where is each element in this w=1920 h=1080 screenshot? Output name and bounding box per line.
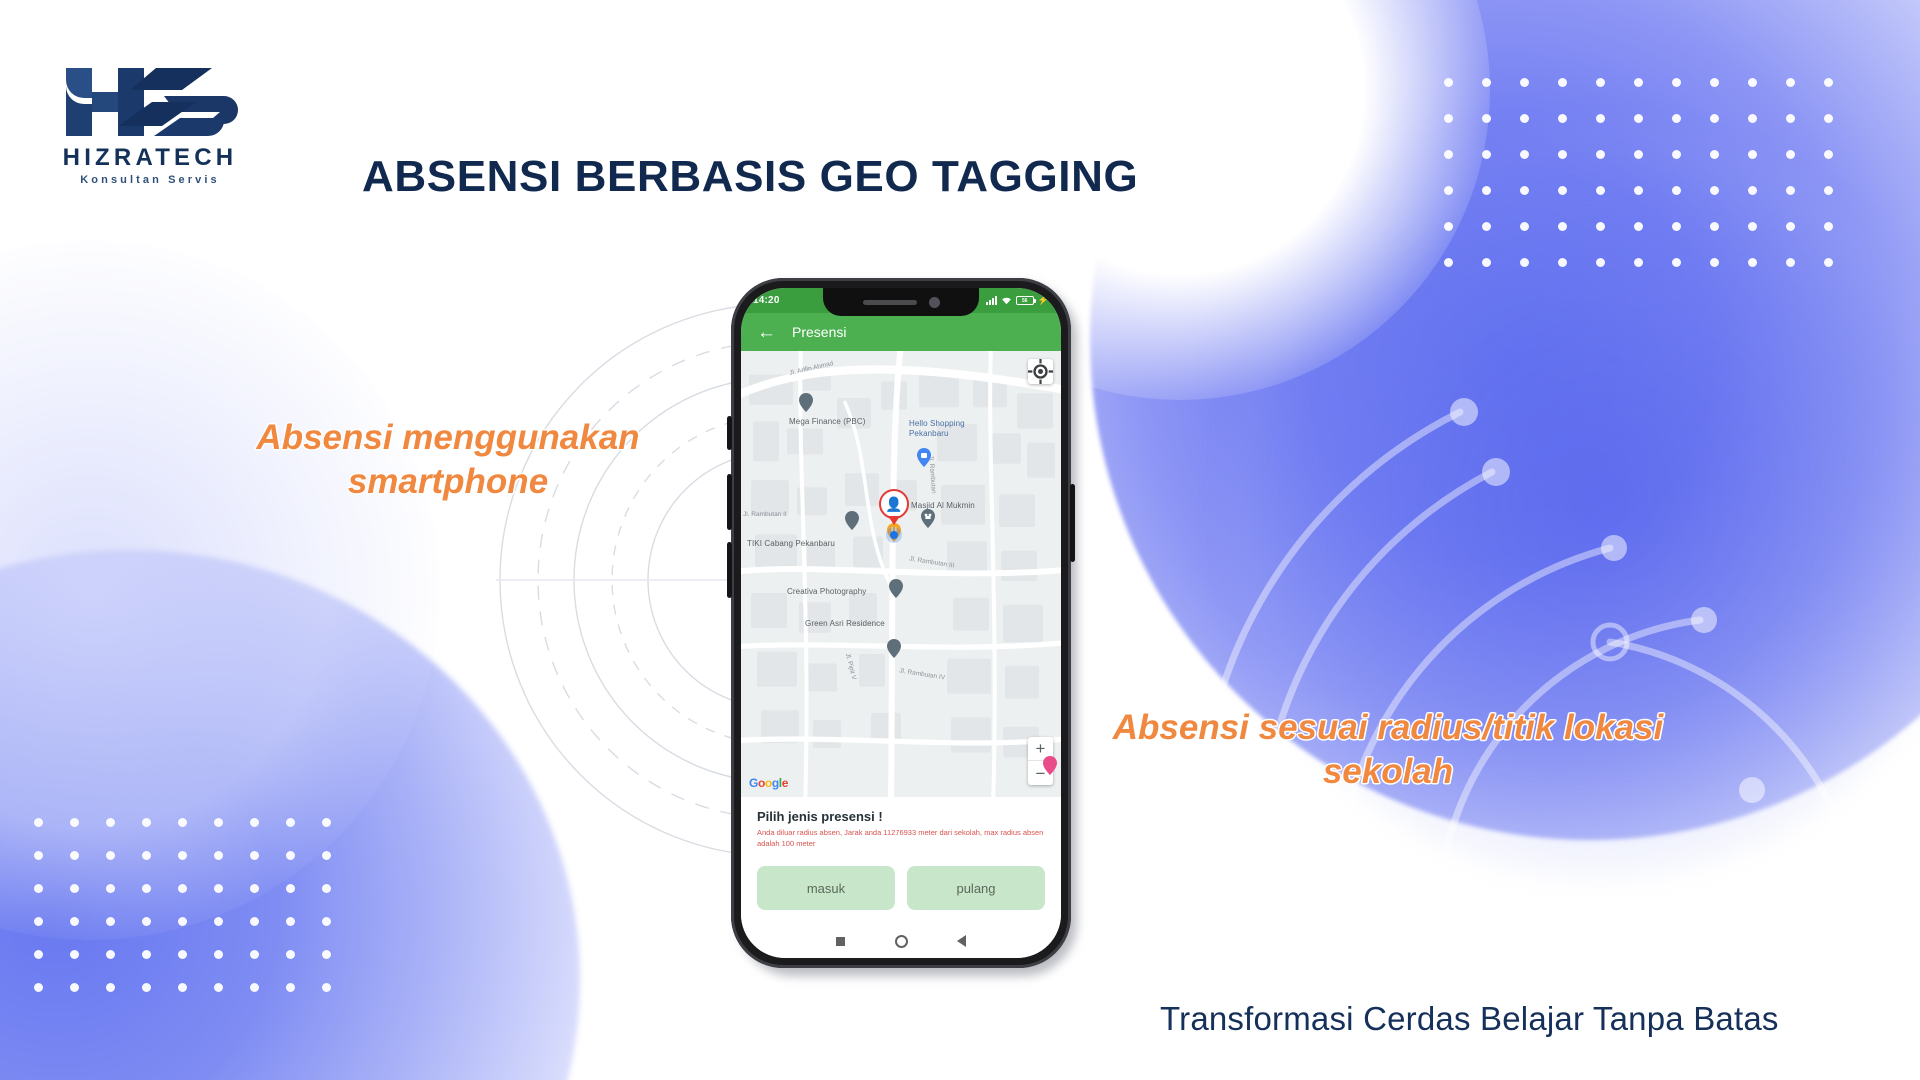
back-arrow-icon[interactable]: ← bbox=[757, 323, 776, 342]
phone-button-silent[interactable] bbox=[727, 416, 732, 450]
signal-bars-icon bbox=[986, 296, 997, 305]
phone-button-power[interactable] bbox=[1070, 484, 1075, 562]
place-label: Green Asri Residence bbox=[805, 619, 885, 628]
place-label: Creativa Photography bbox=[787, 587, 866, 596]
brand-name: HIZRATECH bbox=[52, 146, 248, 170]
callout-left-text: Absensi menggunakan smartphone bbox=[198, 416, 698, 504]
place-label: Hello Shopping Pekanbaru bbox=[909, 419, 981, 439]
battery-level-label: 56 bbox=[1022, 298, 1028, 304]
page-title: ABSENSI BERBASIS GEO TAGGING bbox=[362, 152, 1138, 202]
status-time: 14:20 bbox=[753, 295, 780, 306]
brand-logo: HIZRATECH Konsultan Servis bbox=[52, 62, 248, 186]
phone-mockup: 14:20 56 ⚡ ← Presensi bbox=[731, 278, 1071, 968]
presence-sheet: Pilih jenis presensi ! Anda diluar radiu… bbox=[741, 797, 1061, 856]
sheet-warning: Anda diluar radius absen, Jarak anda 112… bbox=[757, 828, 1045, 850]
map-view[interactable]: Jl. Arifin Ahmad Jl. Rambutan Jl. Rambut… bbox=[741, 351, 1061, 797]
phone-button-volume-up[interactable] bbox=[727, 474, 732, 530]
brand-tagline: Konsultan Servis bbox=[52, 175, 248, 186]
callout-right-text: Absensi sesuai radius/titik lokasi sekol… bbox=[1088, 706, 1688, 794]
phone-screen: 14:20 56 ⚡ ← Presensi bbox=[741, 288, 1061, 958]
place-label: TIKI Cabang Pekanbaru bbox=[747, 539, 835, 548]
current-user-location-icon: 👤 bbox=[879, 489, 909, 519]
bottom-tagline: Transformasi Cerdas Belajar Tanpa Batas bbox=[1160, 1000, 1779, 1038]
shop-pin-icon[interactable] bbox=[917, 448, 931, 467]
place-pin-icon[interactable] bbox=[799, 393, 813, 412]
google-attribution: Google bbox=[749, 777, 788, 789]
masuk-button[interactable]: masuk bbox=[757, 866, 895, 910]
place-label: Masjid Al Mukmin bbox=[911, 501, 975, 510]
sheet-title: Pilih jenis presensi ! bbox=[757, 809, 1045, 824]
place-pin-icon[interactable] bbox=[845, 511, 859, 530]
front-camera-icon bbox=[929, 297, 940, 308]
charging-bolt-icon: ⚡ bbox=[1038, 296, 1049, 305]
circle-home-icon[interactable] bbox=[895, 935, 908, 948]
pink-marker-icon bbox=[1043, 756, 1057, 775]
my-location-icon[interactable] bbox=[1028, 359, 1053, 384]
dot-grid-bottom-left bbox=[34, 818, 364, 1018]
hizratech-monogram-icon bbox=[52, 62, 238, 144]
app-bar-title: Presensi bbox=[792, 324, 846, 340]
pulang-button[interactable]: pulang bbox=[907, 866, 1045, 910]
android-nav-bar bbox=[741, 924, 1061, 958]
phone-notch bbox=[823, 288, 979, 316]
street-label: Jl. Rambutan II bbox=[743, 511, 787, 518]
triangle-back-icon[interactable] bbox=[957, 935, 966, 947]
place-pin-icon[interactable] bbox=[889, 579, 903, 598]
wifi-icon bbox=[1001, 296, 1012, 305]
dot-grid-top-right bbox=[1444, 78, 1874, 298]
square-recents-icon[interactable] bbox=[836, 937, 845, 946]
presence-actions: masuk pulang bbox=[741, 856, 1061, 924]
phone-button-volume-down[interactable] bbox=[727, 542, 732, 598]
app-bar: ← Presensi bbox=[741, 313, 1061, 351]
mosque-pin-icon[interactable] bbox=[921, 509, 935, 528]
earpiece-speaker-icon bbox=[863, 300, 917, 305]
place-pin-icon[interactable] bbox=[887, 639, 901, 658]
user-blue-dot-icon bbox=[886, 527, 902, 543]
place-label: Mega Finance (PBC) bbox=[789, 417, 866, 426]
battery-icon: 56 bbox=[1016, 296, 1034, 305]
